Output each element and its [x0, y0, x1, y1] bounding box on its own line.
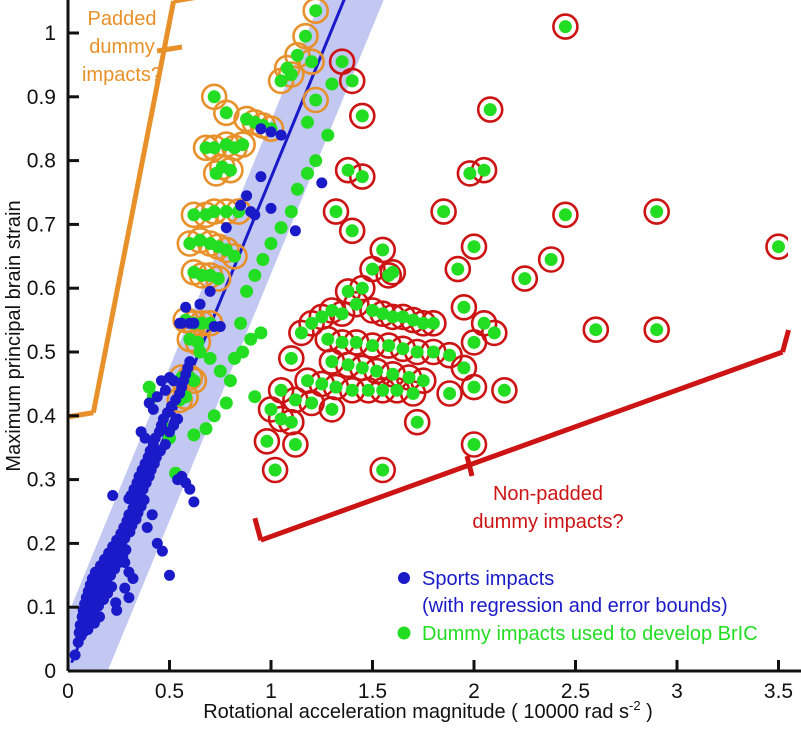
data-point — [215, 321, 226, 332]
data-point — [208, 409, 221, 422]
chart-root: Paddeddummyimpacts?Non-paddeddummy impac… — [0, 0, 801, 738]
y-tick-label: 0 — [44, 660, 56, 683]
nonpadded-bracket-pointer — [467, 456, 472, 476]
data-point — [468, 381, 481, 394]
data-point — [356, 361, 369, 374]
data-point — [260, 435, 273, 448]
y-tick-label: 0.5 — [27, 341, 56, 364]
data-point — [589, 323, 602, 336]
x-title-superscript: -2 — [629, 698, 641, 713]
data-point — [107, 490, 118, 501]
data-point — [184, 356, 195, 367]
data-point — [457, 361, 470, 374]
y-tick-label: 1 — [44, 22, 56, 45]
data-point — [325, 403, 338, 416]
data-point — [478, 317, 491, 330]
data-point — [295, 326, 308, 339]
x-tick-label: 2 — [468, 680, 480, 703]
data-point — [289, 438, 302, 451]
data-point — [275, 74, 288, 87]
data-point — [195, 299, 206, 310]
data-point — [417, 374, 430, 387]
data-point — [194, 346, 207, 359]
data-point — [468, 336, 481, 349]
data-point — [214, 365, 227, 378]
data-point — [315, 377, 328, 390]
data-point — [342, 285, 355, 298]
data-point — [451, 263, 464, 276]
x-tick-label: 0.5 — [155, 680, 184, 703]
data-point — [325, 78, 338, 91]
data-point — [256, 253, 269, 266]
data-point — [366, 263, 379, 276]
data-point — [382, 269, 395, 282]
data-point — [228, 250, 241, 263]
data-point — [236, 346, 249, 359]
data-point — [330, 381, 343, 394]
y-tick-label: 0.1 — [27, 596, 56, 619]
legend-sublabel-sports: (with regression and error bounds) — [422, 595, 728, 617]
data-point — [180, 302, 191, 313]
y-tick-label: 0.7 — [27, 213, 56, 236]
data-point — [386, 368, 399, 381]
legend-label-sports: Sports impacts — [422, 568, 554, 590]
data-point — [142, 522, 153, 533]
data-point — [411, 416, 424, 429]
data-point — [224, 374, 237, 387]
data-point — [443, 349, 456, 362]
data-point — [147, 509, 158, 520]
data-point — [248, 269, 261, 282]
data-point — [208, 90, 221, 103]
y-tick-label: 0.4 — [27, 405, 57, 428]
data-point — [157, 546, 168, 557]
data-point — [559, 208, 572, 221]
data-point — [356, 282, 369, 295]
data-point — [208, 205, 221, 218]
data-point — [249, 209, 260, 220]
data-point — [498, 384, 511, 397]
x-tick-label: 2.5 — [561, 680, 590, 703]
data-point — [346, 384, 359, 397]
data-point — [376, 243, 389, 256]
y-tick-label: 0.6 — [27, 277, 56, 300]
data-point — [275, 384, 288, 397]
data-point — [411, 346, 424, 359]
data-point — [390, 384, 403, 397]
data-point — [285, 205, 298, 218]
data-point — [484, 103, 497, 116]
data-point — [254, 326, 267, 339]
data-point — [200, 422, 213, 435]
data-point — [403, 371, 416, 384]
data-point — [427, 346, 440, 359]
data-point — [119, 583, 130, 594]
data-point — [187, 428, 200, 441]
data-point — [123, 592, 134, 603]
data-point — [241, 190, 252, 201]
data-point — [545, 253, 558, 266]
data-point — [336, 55, 349, 68]
data-point — [407, 387, 420, 400]
data-point — [301, 167, 314, 180]
y-tick-label: 0.2 — [27, 532, 56, 555]
data-point — [559, 20, 572, 33]
legend-marker-dummy — [398, 627, 411, 640]
x-title-tail: ) — [641, 701, 653, 723]
data-point — [468, 438, 481, 451]
data-point — [350, 298, 363, 311]
data-point — [350, 336, 363, 349]
data-point — [240, 285, 253, 298]
data-point — [650, 323, 663, 336]
data-point — [290, 225, 301, 236]
data-point — [488, 326, 501, 339]
data-point — [299, 30, 312, 43]
data-point — [234, 317, 247, 330]
data-point — [309, 4, 322, 17]
data-point — [265, 403, 278, 416]
scatter-plot-svg: Paddeddummyimpacts?Non-paddeddummy impac… — [0, 0, 801, 738]
data-point — [160, 385, 171, 396]
data-point — [220, 106, 233, 119]
data-point — [187, 208, 200, 221]
data-point — [463, 167, 476, 180]
data-point — [301, 374, 314, 387]
padded-annotation-line: dummy — [89, 36, 155, 58]
data-point — [205, 286, 216, 297]
data-point — [289, 393, 302, 406]
nonpadded-bracket-cap-left — [255, 518, 261, 540]
data-point — [221, 222, 232, 233]
data-point — [188, 496, 199, 507]
data-point — [128, 573, 139, 584]
nonpadded-bracket-cap-right — [783, 330, 789, 352]
legend-marker-sports — [398, 572, 410, 584]
data-point — [276, 130, 287, 141]
data-point — [291, 183, 304, 196]
data-point — [285, 352, 298, 365]
data-point — [119, 557, 130, 568]
data-point — [427, 317, 440, 330]
legend-label-dummy: Dummy impacts used to develop BrIC — [422, 623, 758, 645]
nonpadded-annotation-line: dummy impacts? — [472, 511, 623, 533]
data-point — [346, 74, 359, 87]
y-tick-label: 0.3 — [27, 469, 56, 492]
data-point — [148, 404, 159, 415]
data-point — [772, 240, 785, 253]
data-point — [518, 272, 531, 285]
data-point — [236, 138, 249, 151]
data-point — [305, 55, 318, 68]
data-point — [468, 240, 481, 253]
data-point — [255, 123, 266, 134]
data-point — [342, 358, 355, 371]
data-point — [224, 164, 237, 177]
data-point — [106, 581, 117, 592]
x-tick-label: 0 — [62, 680, 74, 703]
y-axis-title: Maximum principal brain strain — [3, 200, 25, 471]
data-point — [275, 221, 288, 234]
data-point — [437, 205, 450, 218]
data-point — [70, 650, 81, 661]
data-point — [309, 94, 322, 107]
x-tick-label: 1 — [265, 680, 277, 703]
data-point — [443, 387, 456, 400]
data-point — [160, 439, 171, 450]
data-point — [301, 116, 314, 129]
data-point — [370, 365, 383, 378]
data-point — [220, 205, 233, 218]
x-title-main: Rotational acceleration magnitude ( 1000… — [203, 701, 629, 723]
nonpadded-annotation-line: Non-padded — [493, 483, 603, 505]
data-point — [366, 339, 379, 352]
data-point — [309, 154, 322, 167]
data-point — [362, 384, 375, 397]
data-point — [305, 397, 318, 410]
data-point — [255, 171, 266, 182]
data-point — [248, 390, 261, 403]
data-point — [342, 164, 355, 177]
data-point — [325, 355, 338, 368]
data-point — [212, 272, 225, 285]
data-point — [200, 141, 213, 154]
data-point — [266, 203, 277, 214]
y-tick-label: 0.9 — [27, 86, 56, 109]
padded-annotation-line: impacts? — [82, 64, 162, 86]
data-point — [285, 416, 298, 429]
data-point — [210, 167, 223, 180]
x-tick-label: 3.5 — [764, 680, 793, 703]
data-point — [132, 496, 143, 507]
data-point — [120, 544, 131, 555]
x-axis-title: Rotational acceleration magnitude ( 1000… — [203, 698, 653, 723]
padded-annotation-line: Padded — [88, 8, 157, 30]
x-tick-label: 3 — [671, 680, 683, 703]
data-point — [478, 164, 491, 177]
legend-layer: Sports impacts(with regression and error… — [398, 568, 758, 645]
data-point — [235, 200, 246, 211]
data-point — [356, 170, 369, 183]
data-point — [356, 109, 369, 122]
data-point — [291, 49, 304, 62]
data-point — [650, 205, 663, 218]
data-point — [321, 129, 334, 142]
data-point — [111, 605, 122, 616]
data-point — [321, 333, 334, 346]
data-point — [376, 464, 389, 477]
data-point — [164, 570, 175, 581]
data-point — [184, 484, 195, 495]
data-point — [382, 339, 395, 352]
data-point — [457, 301, 470, 314]
data-point — [220, 397, 233, 410]
data-point — [336, 336, 349, 349]
data-point — [346, 224, 359, 237]
data-point — [396, 342, 409, 355]
padded-bracket-pointer — [157, 47, 182, 51]
padded-bracket-cap-top — [174, 0, 198, 1]
data-point — [269, 464, 282, 477]
data-point — [316, 177, 327, 188]
padded-bracket-line — [93, 1, 173, 413]
data-point — [188, 318, 199, 329]
data-point — [168, 375, 179, 386]
y-tick-label: 0.8 — [27, 150, 56, 173]
data-point — [330, 205, 343, 218]
data-point — [305, 317, 318, 330]
x-tick-label: 1.5 — [358, 680, 387, 703]
data-point — [94, 611, 105, 622]
data-point — [265, 237, 278, 250]
data-point — [140, 433, 151, 444]
data-point — [172, 414, 183, 425]
data-point — [266, 126, 277, 137]
data-point — [376, 384, 389, 397]
